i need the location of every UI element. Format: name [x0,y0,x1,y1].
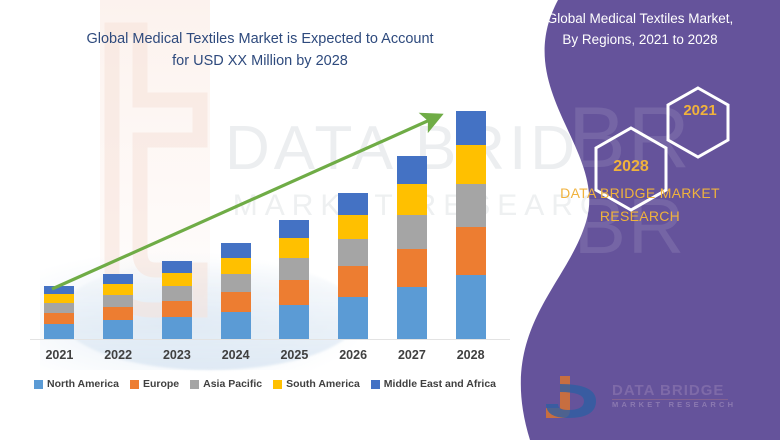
dbmr-logo-text: DATA BRIDGE MARKET RESEARCH [612,382,736,411]
bar-segment-asia-pacific [162,286,192,300]
stacked-bar [162,261,192,339]
panel-brand: DATA BRIDGE MARKET RESEARCH [516,182,764,228]
bar-segment-south-america [162,273,192,286]
bar-segment-middle-east-and-africa [279,220,309,238]
legend-label: South America [286,378,360,390]
bar-column-2026 [325,100,381,339]
x-axis-labels: 20212022202320242025202620272028 [30,344,500,366]
bar-segment-north-america [397,287,427,339]
stacked-bar [103,274,133,339]
dbmr-logo-rule [612,399,728,400]
legend-label: Asia Pacific [203,378,262,390]
bar-column-2022 [90,100,146,339]
bar-segment-europe [221,292,251,312]
bar-column-2024 [208,100,264,339]
hexagon-2021-label: 2021 [668,102,732,119]
x-axis-tick-2027: 2027 [384,348,440,362]
legend-item-south-america[interactable]: South America [273,378,360,390]
stacked-bar [397,156,427,339]
bar-segment-north-america [103,320,133,339]
bar-segment-europe [162,301,192,318]
chart-title-line-2: for USD XX Million by 2028 [40,50,480,72]
panel-brand-line-2: RESEARCH [516,205,764,228]
bar-segment-asia-pacific [44,303,74,313]
stacked-bar [456,111,486,339]
bar-segment-europe [103,307,133,320]
bar-segment-asia-pacific [456,184,486,227]
dbmr-logo-title: DATA BRIDGE [612,382,736,399]
bar-segment-asia-pacific [221,274,251,292]
legend-swatch-icon [130,380,139,389]
stacked-bar [338,193,368,339]
bar-segment-north-america [279,305,309,339]
bar-segment-asia-pacific [338,239,368,267]
x-axis-tick-2024: 2024 [208,348,264,362]
bar-segment-middle-east-and-africa [103,274,133,284]
x-axis-tick-2025: 2025 [266,348,322,362]
bar-segment-middle-east-and-africa [338,193,368,215]
bar-segment-south-america [397,184,427,215]
bar-segment-asia-pacific [279,258,309,280]
bar-segment-north-america [44,324,74,339]
bar-column-2027 [384,100,440,339]
bar-column-2023 [149,100,205,339]
bar-segment-middle-east-and-africa [162,261,192,273]
legend-label: Middle East and Africa [384,378,496,390]
bar-segment-europe [279,280,309,305]
legend-swatch-icon [34,380,43,389]
stacked-bar [279,220,309,339]
bar-segment-asia-pacific [103,295,133,307]
legend-item-europe[interactable]: Europe [130,378,179,390]
bar-chart-plot [30,100,500,339]
x-axis-tick-2022: 2022 [90,348,146,362]
panel-brand-line-1: DATA BRIDGE MARKET [516,182,764,205]
bar-segment-north-america [338,297,368,339]
bar-segment-north-america [162,317,192,339]
bar-segment-north-america [221,312,251,340]
x-axis-tick-2026: 2026 [325,348,381,362]
bar-segment-europe [44,313,74,324]
bar-segment-europe [397,249,427,288]
legend-label: Europe [143,378,179,390]
x-axis-tick-2028: 2028 [443,348,499,362]
bar-segment-asia-pacific [397,215,427,249]
bar-segment-middle-east-and-africa [397,156,427,184]
bar-segment-middle-east-and-africa [221,243,251,257]
x-axis-tick-2023: 2023 [149,348,205,362]
legend-item-north-america[interactable]: North America [34,378,119,390]
legend-item-middle-east-and-africa[interactable]: Middle East and Africa [371,378,496,390]
legend-swatch-icon [190,380,199,389]
bar-column-2021 [31,100,87,339]
legend-label: North America [47,378,119,390]
bar-column-2028 [443,100,499,339]
bar-column-2025 [266,100,322,339]
hexagon-2021-icon [668,88,728,157]
chart-title: Global Medical Textiles Market is Expect… [40,28,480,72]
bar-segment-europe [456,227,486,275]
stacked-bar [44,286,74,339]
bar-segment-south-america [456,145,486,184]
x-axis-line [30,339,510,340]
hexagon-2028-label: 2028 [596,158,666,176]
legend-swatch-icon [273,380,282,389]
bar-segment-south-america [221,258,251,275]
bar-segment-middle-east-and-africa [44,286,74,294]
legend-item-asia-pacific[interactable]: Asia Pacific [190,378,262,390]
bar-segment-north-america [456,275,486,339]
bar-segment-europe [338,266,368,297]
bar-segment-south-america [338,215,368,239]
legend-swatch-icon [371,380,380,389]
bar-segment-south-america [279,238,309,258]
infographic-canvas: DATA BRIDGE MARKET RESEARCH Global Medic… [0,0,780,440]
chart-title-line-1: Global Medical Textiles Market is Expect… [40,28,480,50]
chart-legend: North AmericaEuropeAsia PacificSouth Ame… [20,374,510,394]
stacked-bar [221,243,251,339]
dbmr-logo-subtitle: MARKET RESEARCH [612,399,736,411]
x-axis-tick-2021: 2021 [31,348,87,362]
bar-segment-south-america [44,294,74,303]
bar-segment-middle-east-and-africa [456,111,486,145]
bar-segment-south-america [103,284,133,295]
